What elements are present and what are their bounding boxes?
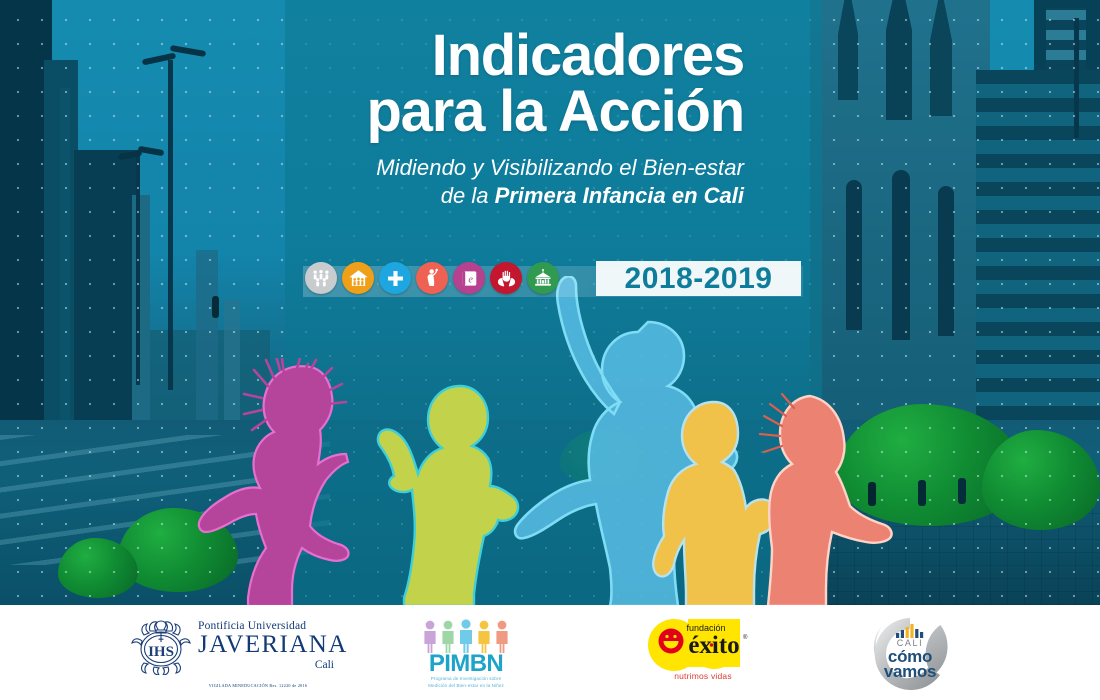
footer-logo-bar: IHS Pontificia Universidad JAVERIANA Cal…	[0, 605, 1100, 700]
javeriana-line-2: JAVERIANA	[198, 632, 348, 659]
protection-hands-icon[interactable]	[490, 262, 522, 294]
logo-pimbn[interactable]: PIMBN Programa de Investigación sobre Me…	[418, 619, 514, 691]
dimension-icons: e	[305, 262, 559, 294]
pimbn-tagline-line-2: Medición del Bien-estar en la Niñez	[416, 683, 516, 690]
child-silhouette-coral	[752, 390, 904, 605]
subtitle-line-2: de la Primera Infancia en Cali	[285, 182, 744, 210]
hero-image-area: Indicadores para la Acción Midiendo y Vi…	[0, 0, 1100, 605]
exito-name-text: éxito	[688, 632, 739, 659]
exito-registered-text: ®	[743, 634, 748, 641]
sponsor-logos: IHS Pontificia Universidad JAVERIANA Cal…	[0, 605, 1100, 700]
people-group-icon[interactable]	[305, 262, 337, 294]
title-line-2: para la Acción	[285, 84, 744, 140]
ccv-vamos-label: vamos	[862, 663, 958, 680]
nutrition-icon[interactable]	[416, 262, 448, 294]
subtitle-line-2-prefix: de la	[441, 183, 495, 208]
javeriana-crest-monogram: IHS	[148, 644, 174, 660]
subtitle-line-1: Midiendo y Visibilizando el Bien-estar	[285, 154, 744, 182]
javeriana-crest-icon: IHS	[130, 619, 192, 675]
child-silhouette-magenta	[196, 358, 382, 605]
pimbn-tagline: Programa de Investigación sobre Medición…	[416, 676, 516, 690]
javeriana-wordmark: Pontificia Universidad JAVERIANA Cali	[198, 620, 348, 671]
pimbn-children-icon	[420, 619, 512, 653]
poster-cover: Indicadores para la Acción Midiendo y Vi…	[0, 0, 1100, 700]
pimbn-wordmark: PIMBN	[418, 652, 514, 676]
logo-fundacion-exito[interactable]: fundación éxito ® nutrimos vidas	[648, 619, 758, 691]
education-book-icon[interactable]: e	[453, 262, 485, 294]
logo-cali-como-vamos[interactable]: CALI cómo vamos	[862, 619, 958, 689]
exito-mark-icon: fundación éxito ®	[648, 619, 758, 671]
poster-title: Indicadores para la Acción	[285, 28, 744, 139]
health-cross-icon[interactable]	[379, 262, 411, 294]
javeriana-vigilada-text: VIGILADA MINEDUCACIÓN Res. 12220 de 2016	[158, 683, 358, 688]
year-range-label: 2018-2019	[625, 264, 773, 294]
subtitle-line-2-bold: Primera Infancia en Cali	[495, 183, 744, 208]
year-badge: 2018-2019	[596, 261, 801, 296]
pimbn-tagline-line-1: Programa de Investigación sobre	[416, 676, 516, 683]
institutions-icon[interactable]	[527, 262, 559, 294]
logo-javeriana[interactable]: IHS Pontificia Universidad JAVERIANA Cal…	[130, 617, 345, 687]
ccv-bar-chart-icon	[896, 624, 924, 638]
house-family-icon[interactable]	[342, 262, 374, 294]
svg-text:e: e	[468, 274, 473, 285]
title-block: Indicadores para la Acción Midiendo y Vi…	[285, 28, 822, 210]
javeriana-line-3: Cali	[198, 659, 348, 671]
exito-tagline: nutrimos vidas	[648, 671, 758, 681]
